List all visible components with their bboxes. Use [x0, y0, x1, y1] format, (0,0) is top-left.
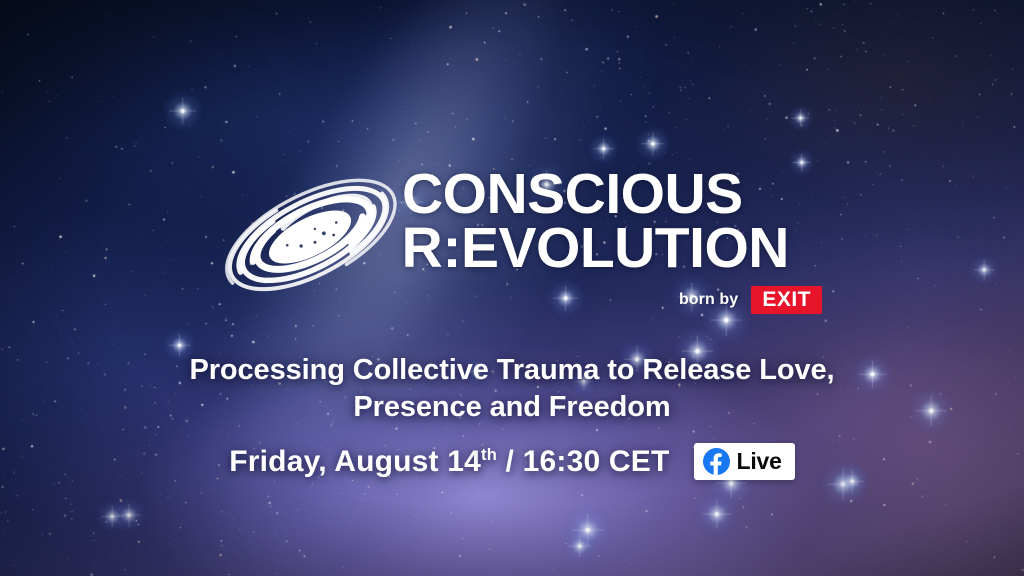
facebook-live-label: Live: [737, 450, 782, 473]
facebook-f-icon: [703, 448, 730, 475]
wordmark-line-revolution: Я:EVOLUTION: [402, 222, 822, 274]
wordmark: CONSCIOUS Я:EVOLUTION: [402, 168, 822, 275]
facebook-live-badge[interactable]: Live: [694, 443, 795, 480]
logo-block: CONSCIOUS Я:EVOLUTION born by EXIT: [0, 168, 1024, 318]
subtitle-line-1: Processing Collective Trauma to Release …: [110, 352, 914, 389]
subtitle-line-2: Presence and Freedom: [110, 389, 914, 426]
event-day: Friday, August 14: [229, 445, 481, 478]
exit-brand-badge: EXIT: [751, 286, 822, 314]
evolution-text: EVOLUTION: [461, 216, 789, 280]
wordmark-line-conscious: CONSCIOUS: [402, 168, 822, 220]
born-by-row: born by EXIT: [402, 286, 822, 314]
ordinal-suffix: th: [481, 446, 497, 464]
event-time: 16:30 CET: [523, 445, 670, 478]
galaxy-spiral-icon: [222, 176, 398, 298]
datetime-separator: /: [497, 445, 523, 478]
colon-glyph: :: [442, 216, 460, 280]
event-subtitle: Processing Collective Trauma to Release …: [0, 352, 1024, 426]
born-by-label: born by: [679, 291, 738, 309]
event-datetime-row: Friday, August 14th / 16:30 CET Live: [0, 443, 1024, 480]
mirrored-r-glyph: Я: [402, 222, 442, 274]
event-datetime: Friday, August 14th / 16:30 CET: [229, 445, 669, 479]
poster-canvas: CONSCIOUS Я:EVOLUTION born by EXIT Proce…: [0, 0, 1024, 576]
